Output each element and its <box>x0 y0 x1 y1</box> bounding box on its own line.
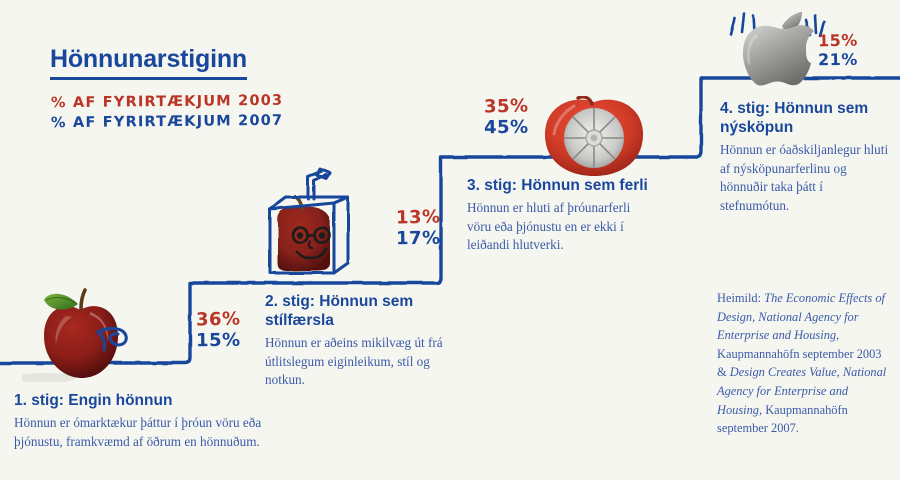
percent-2003-stage-4: 15% <box>818 32 858 52</box>
stage-caption-1: 1. stig: Engin hönnun Hönnun er ómarktæk… <box>14 392 304 451</box>
percent-2003-stage-2: 13% <box>396 207 441 229</box>
percent-pair-stage-1: 36% 15% <box>196 309 241 351</box>
page-title: Hönnunarstiginn <box>50 46 247 80</box>
percent-2007-stage-4: 21% <box>818 51 858 70</box>
stage-body-2: Hönnun er aðeins mikilvæg út frá útlitsl… <box>265 334 450 390</box>
infographic-canvas: Hönnunarstiginn % AF FYRIRTÆKJUM 2003 % … <box>0 0 900 480</box>
source-label: Heimild: <box>717 291 761 305</box>
stage-body-3: Hönnun er hluti af þróunarferli vöru eða… <box>467 199 657 255</box>
source-citation: Heimild: The Economic Effects of Design,… <box>717 289 889 438</box>
percent-pair-stage-3: 35% 45% <box>484 96 529 138</box>
percent-2003-stage-1: 36% <box>196 309 241 331</box>
stage-heading-3: 3. stig: Hönnun sem ferli <box>467 177 657 196</box>
stage-body-1: Hönnun er ómarktækur þáttur í þróun vöru… <box>14 414 304 451</box>
stage-heading-2: 2. stig: Hönnun sem stílfærsla <box>265 293 450 331</box>
percent-pair-stage-2: 13% 17% <box>396 207 441 249</box>
stage-heading-4: 4. stig: Hönnun sem nýsköpun <box>720 100 895 138</box>
apple-slicer-icon <box>540 96 648 178</box>
stage-body-4: Hönnun er óaðskiljanlegur hluti af nýskö… <box>720 141 895 216</box>
juice-box-icon <box>252 163 354 283</box>
percent-2007-stage-2: 17% <box>396 228 441 250</box>
percent-pair-stage-4: 15% 21% <box>818 32 858 70</box>
percent-2003-stage-3: 35% <box>484 96 529 118</box>
stage-caption-2: 2. stig: Hönnun sem stílfærsla Hönnun er… <box>265 293 450 390</box>
apple-photo-icon <box>22 282 140 382</box>
legend-item-2003: % AF FYRIRTÆKJUM 2003 <box>51 93 283 111</box>
percent-2007-stage-1: 15% <box>196 330 241 352</box>
stage-heading-1: 1. stig: Engin hönnun <box>14 392 304 411</box>
stage-caption-4: 4. stig: Hönnun sem nýsköpun Hönnun er ó… <box>720 100 895 216</box>
percent-2007-stage-3: 45% <box>484 117 529 139</box>
stage-caption-3: 3. stig: Hönnun sem ferli Hönnun er hlut… <box>467 177 657 255</box>
legend-item-2007: % AF FYRIRTÆKJUM 2007 <box>51 113 283 131</box>
